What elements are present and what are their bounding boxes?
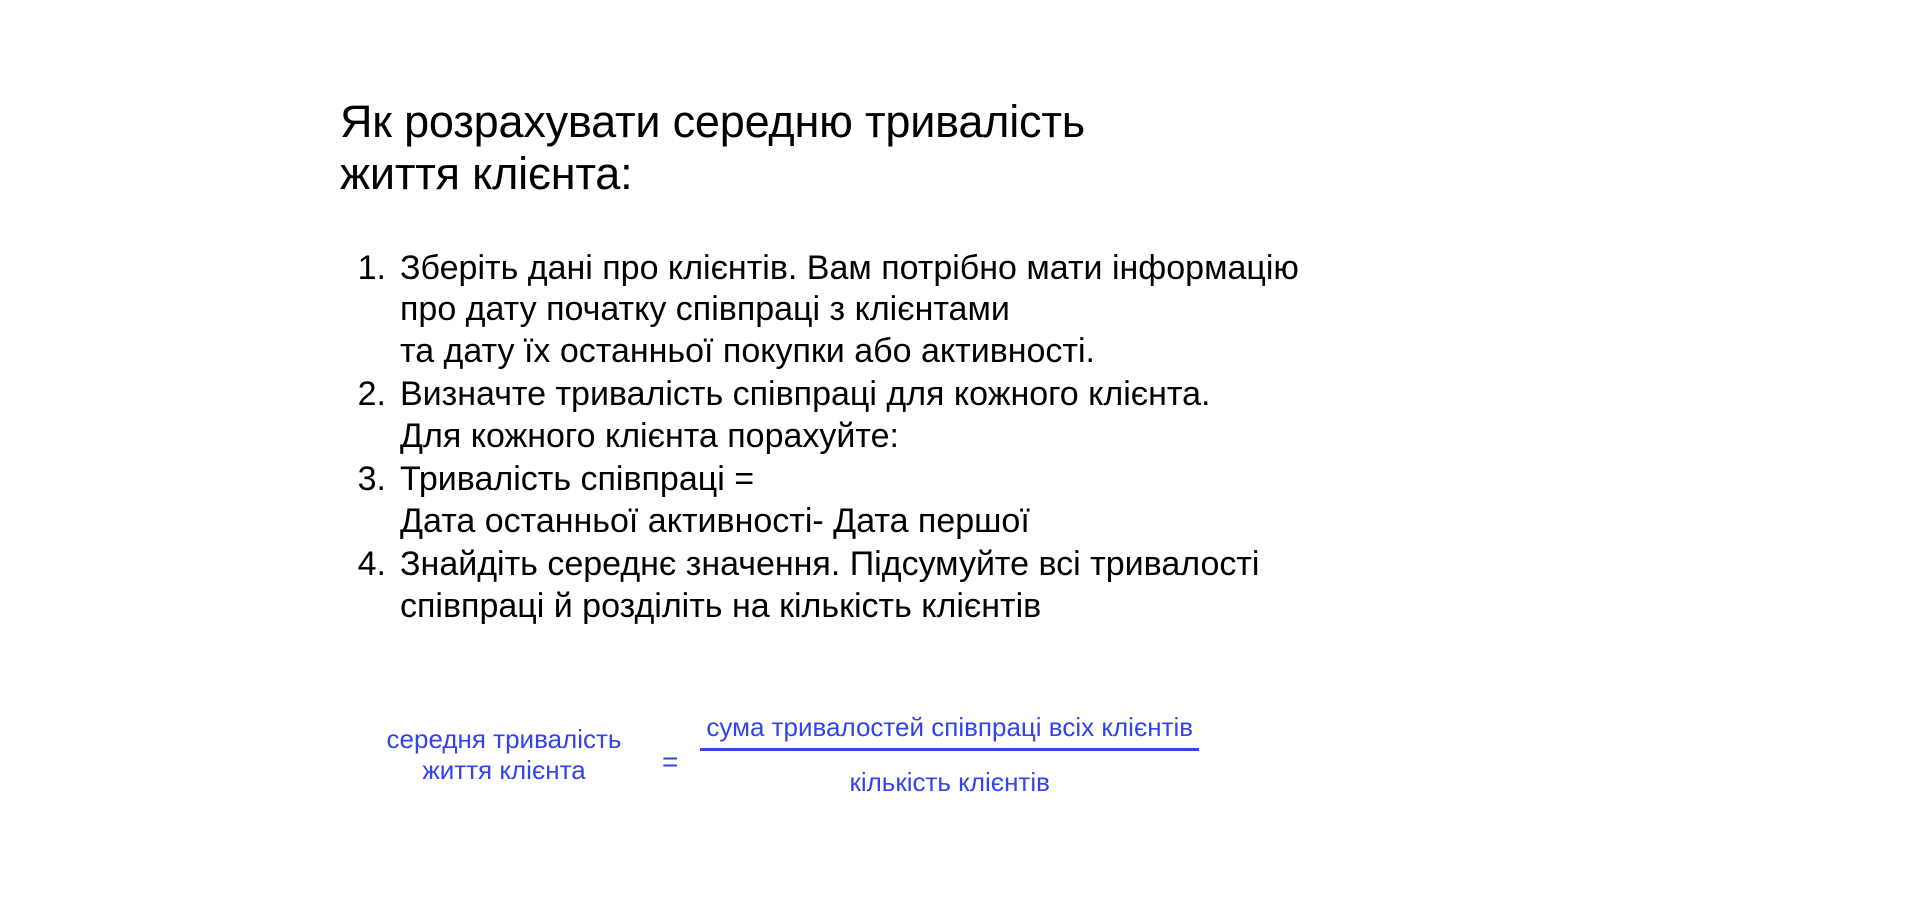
- fraction-denominator: кількість клієнтів: [849, 751, 1049, 798]
- fraction: сума тривалостей співпраці всіх клієнтів…: [700, 712, 1199, 797]
- list-item: 1. Зберіть дані про клієнтів. Вам потріб…: [330, 248, 1650, 372]
- fraction-numerator: сума тривалостей співпраці всіх клієнтів: [700, 712, 1199, 748]
- equals-sign: =: [662, 745, 678, 778]
- step-number: 3.: [330, 459, 400, 500]
- list-item: 2. Визначте тривалість співпраці для кож…: [330, 374, 1650, 457]
- list-item: 4. Знайдіть середнє значення. Підсумуйте…: [330, 544, 1650, 627]
- step-number: 4.: [330, 544, 400, 585]
- step-text: Зберіть дані про клієнтів. Вам потрібно …: [400, 248, 1650, 372]
- formula-left-side: середня тривалість життя клієнта: [370, 724, 638, 785]
- step-text: Визначте тривалість співпраці для кожног…: [400, 374, 1650, 457]
- page-title: Як розрахувати середню тривалість життя …: [340, 96, 1460, 200]
- slide-canvas: Як розрахувати середню тривалість життя …: [0, 0, 1920, 911]
- step-text: Знайдіть середнє значення. Підсумуйте вс…: [400, 544, 1650, 627]
- step-number: 2.: [330, 374, 400, 415]
- steps-list: 1. Зберіть дані про клієнтів. Вам потріб…: [330, 248, 1650, 629]
- clv-formula: середня тривалість життя клієнта = сума …: [370, 712, 1199, 797]
- step-text: Тривалість співпраці = Дата останньої ак…: [400, 459, 1650, 542]
- list-item: 3. Тривалість співпраці = Дата останньої…: [330, 459, 1650, 542]
- step-number: 1.: [330, 248, 400, 289]
